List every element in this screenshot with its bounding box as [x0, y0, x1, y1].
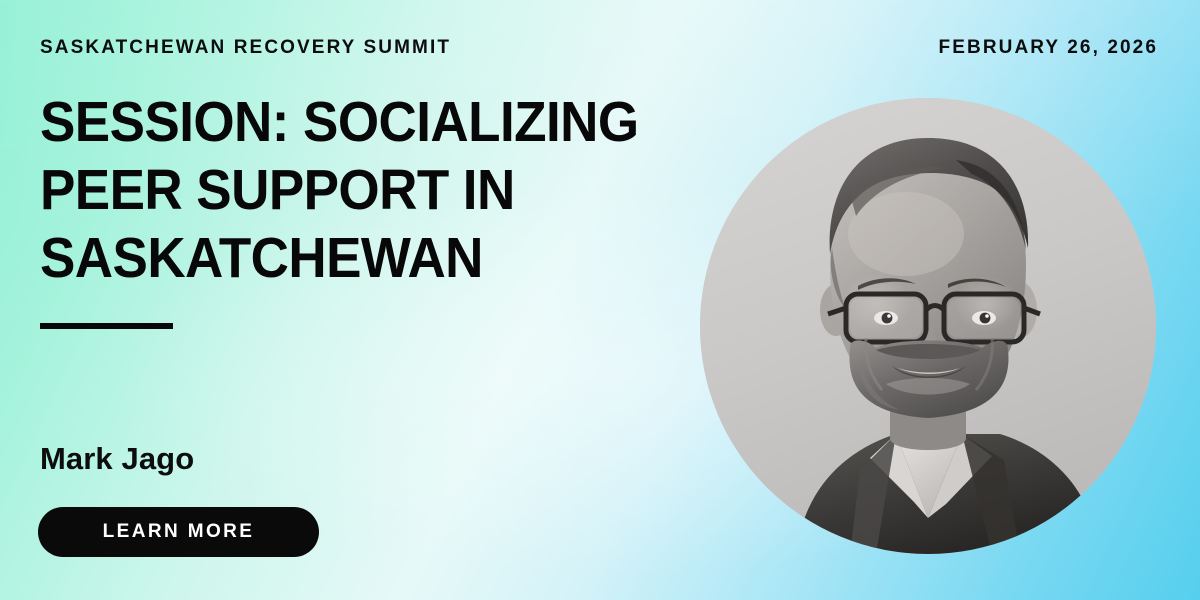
headline-line-2: PEER SUPPORT IN [40, 156, 654, 224]
speaker-name: Mark Jago [40, 442, 194, 476]
speaker-portrait-avatar [700, 98, 1156, 554]
page-title: SESSION: SOCIALIZING PEER SUPPORT IN SAS… [40, 88, 654, 292]
event-date-label: FEBRUARY 26, 2026 [939, 38, 1158, 57]
event-promo-banner: SASKATCHEWAN RECOVERY SUMMIT FEBRUARY 26… [0, 0, 1200, 600]
divider-rule [40, 323, 173, 329]
learn-more-button[interactable]: LEARN MORE [38, 507, 319, 557]
event-name-label: SASKATCHEWAN RECOVERY SUMMIT [40, 38, 451, 57]
headline-line-1: SESSION: SOCIALIZING [40, 88, 654, 156]
headline-line-3: SASKATCHEWAN [40, 224, 654, 292]
speaker-portrait-illustration [700, 98, 1156, 554]
